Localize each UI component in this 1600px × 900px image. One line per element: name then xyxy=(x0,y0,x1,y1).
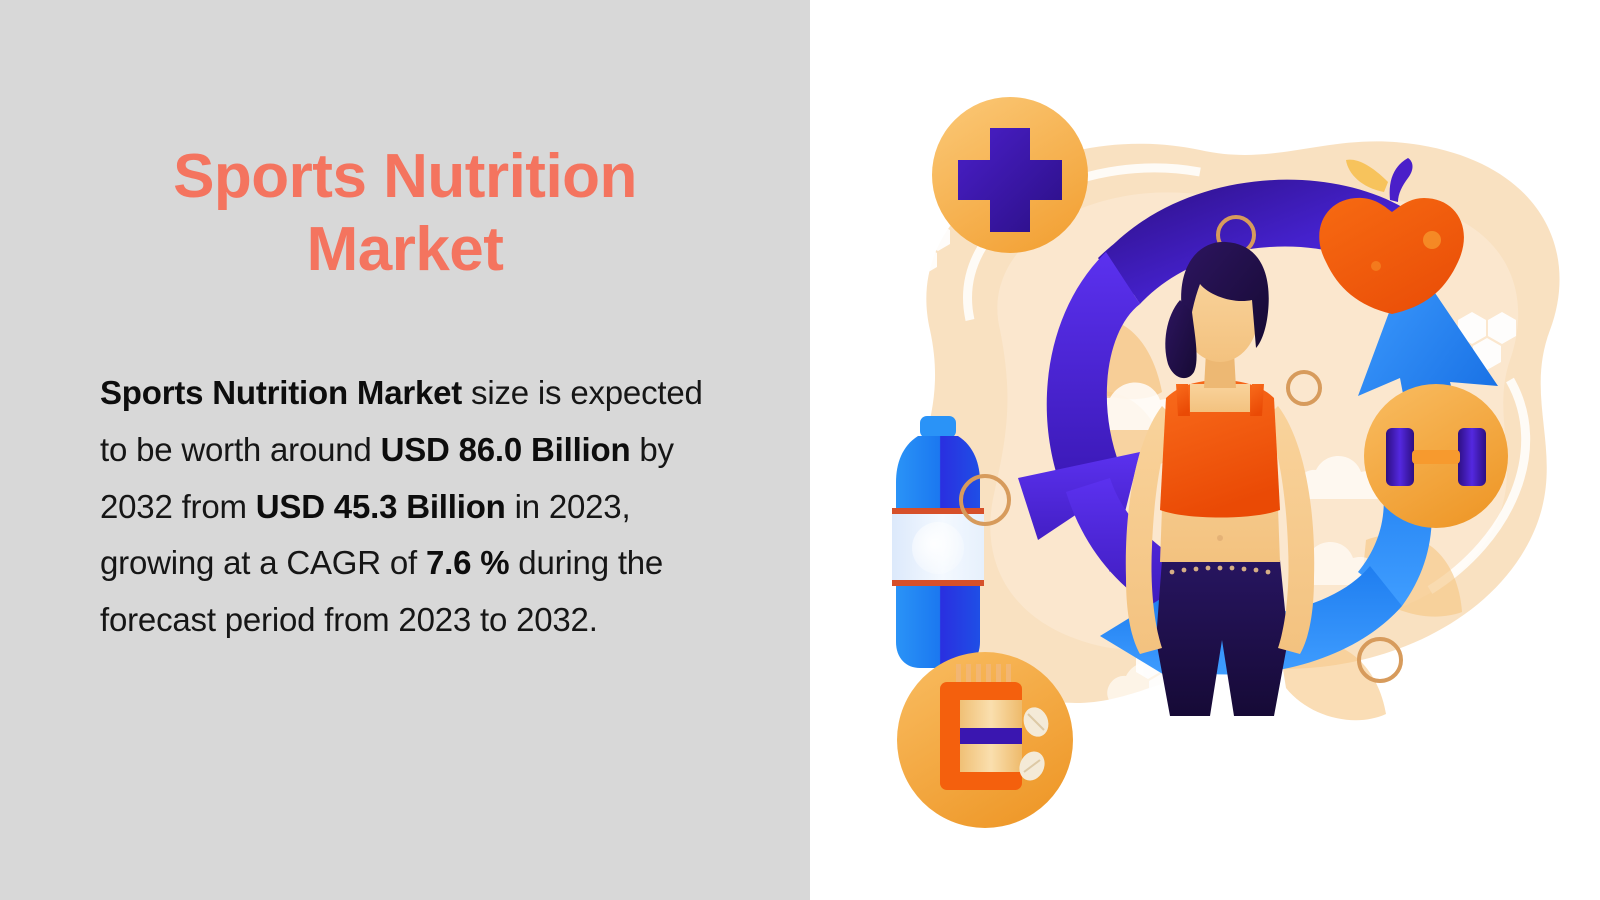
dumbbell-icon xyxy=(1364,384,1508,528)
illustration-svg xyxy=(810,0,1600,900)
text-panel: Sports Nutrition Market Sports Nutrition… xyxy=(0,0,810,900)
water-bottle-icon xyxy=(892,416,984,668)
supplement-jar-icon xyxy=(897,652,1073,828)
apple-highlight xyxy=(1423,231,1441,249)
illustration-panel xyxy=(810,0,1600,900)
bottle-label-bubble xyxy=(912,522,964,574)
market-summary-paragraph: Sports Nutrition Market size is expected… xyxy=(100,365,725,649)
apple-highlight-2 xyxy=(1371,261,1381,271)
bottle-stripe-top xyxy=(892,508,984,514)
jar-label-band xyxy=(960,728,1022,744)
market-size-2023-value: USD 45.3 Billion xyxy=(256,488,506,525)
athlete-navel xyxy=(1217,535,1223,541)
dumbbell-weight-right xyxy=(1458,428,1486,486)
cagr-value: 7.6 % xyxy=(426,544,509,581)
market-name-emphasis: Sports Nutrition Market xyxy=(100,374,462,411)
medical-cross-icon xyxy=(932,97,1088,253)
dumbbell-weight-left xyxy=(1386,428,1414,486)
athlete-shorts xyxy=(1156,560,1288,716)
market-report-poster: Sports Nutrition Market Sports Nutrition… xyxy=(0,0,1600,900)
bottle-stripe-bottom xyxy=(892,580,984,586)
market-size-2032-value: USD 86.0 Billion xyxy=(381,431,631,468)
page-title: Sports Nutrition Market xyxy=(100,140,710,286)
dumbbell-bar xyxy=(1412,450,1460,464)
bottle-cap xyxy=(920,416,956,438)
sports-nutrition-illustration xyxy=(810,0,1600,900)
